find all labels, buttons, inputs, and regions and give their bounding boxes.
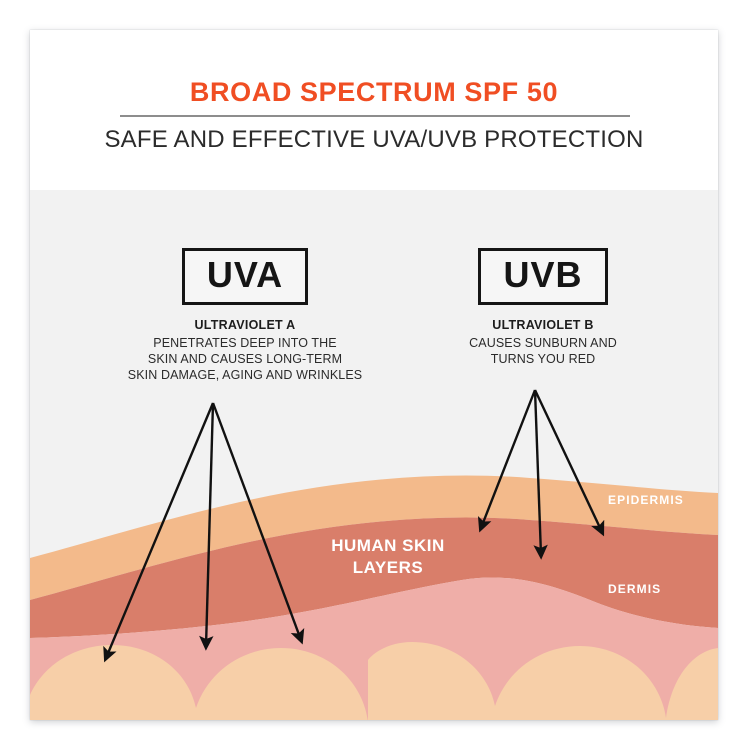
infographic-canvas: BROAD SPECTRUM SPF 50 SAFE AND EFFECTIVE…	[0, 0, 750, 750]
uva-name: ULTRAVIOLET A	[85, 318, 405, 332]
page-title: BROAD SPECTRUM SPF 50	[30, 77, 718, 108]
header: BROAD SPECTRUM SPF 50 SAFE AND EFFECTIVE…	[30, 30, 718, 190]
uva-arrow-3	[213, 403, 301, 640]
uvb-badge: UVB	[478, 248, 607, 305]
uvb-arrow-2	[535, 390, 541, 555]
diagram-body: UVA ULTRAVIOLET A PENETRATES DEEP INTO T…	[30, 190, 718, 720]
uva-description: PENETRATES DEEP INTO THE SKIN AND CAUSES…	[85, 335, 405, 383]
page-subtitle: SAFE AND EFFECTIVE UVA/UVB PROTECTION	[30, 126, 718, 154]
title-divider	[120, 115, 630, 117]
infographic-card: BROAD SPECTRUM SPF 50 SAFE AND EFFECTIVE…	[30, 30, 718, 720]
uva-badge: UVA	[182, 248, 308, 305]
uva-ray-group: UVA ULTRAVIOLET A PENETRATES DEEP INTO T…	[85, 248, 405, 383]
uva-arrow-1	[106, 403, 213, 658]
uvb-ray-group: UVB ULTRAVIOLET B CAUSES SUNBURN AND TUR…	[408, 248, 678, 367]
uva-arrow-2	[206, 403, 213, 646]
uvb-arrow-3	[535, 390, 602, 532]
uvb-arrow-1	[481, 390, 535, 528]
uvb-description: CAUSES SUNBURN AND TURNS YOU RED	[408, 335, 678, 367]
uvb-name: ULTRAVIOLET B	[408, 318, 678, 332]
